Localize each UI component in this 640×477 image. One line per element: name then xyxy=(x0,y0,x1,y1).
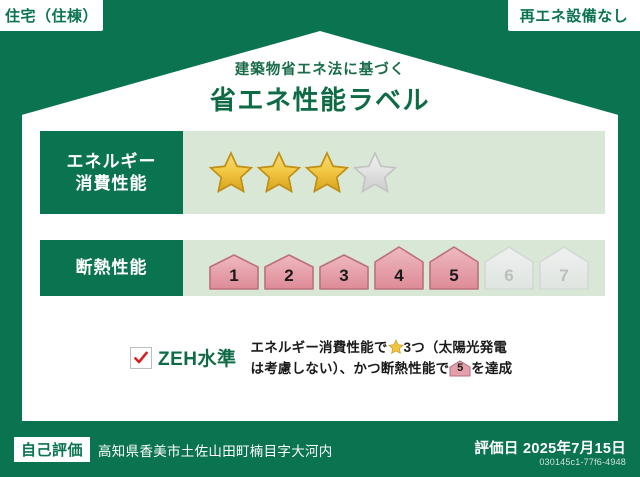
house-badge-number: 5 xyxy=(449,360,471,377)
zeh-desc-part1: エネルギー消費性能で xyxy=(251,340,388,355)
zeh-label: ZEH水準 xyxy=(158,344,237,371)
star-filled-icon xyxy=(304,150,350,196)
label-subtitle: 建築物省エネ法に基づく xyxy=(0,58,640,79)
zeh-description: エネルギー消費性能で 3つ（太陽光発電 は考慮しない）、かつ断熱性能で 5 を達… xyxy=(251,338,513,380)
self-evaluation-badge: 自己評価 xyxy=(14,437,90,462)
insulation-level-filled: 1 xyxy=(208,254,260,290)
zeh-desc-part3: は考慮しない）、かつ断熱性能で xyxy=(251,361,450,376)
zeh-desc-part4: を達成 xyxy=(471,361,512,376)
evaluation-id: 030145c1-77f6-4948 xyxy=(539,457,626,467)
property-address: 高知県香美市土佐山田町楠目字大河内 xyxy=(98,440,333,460)
insulation-level-filled: 4 xyxy=(373,246,425,290)
building-type-badge: 住宅（住棟） xyxy=(0,0,103,31)
zeh-heading: ZEH水準 xyxy=(130,344,237,371)
evaluation-date: 評価日 2025年7月15日 xyxy=(474,437,626,458)
footer: 自己評価 高知県香美市土佐山田町楠目字大河内 評価日 2025年7月15日 03… xyxy=(0,421,640,477)
star-empty-icon xyxy=(352,150,398,196)
star-filled-icon xyxy=(256,150,302,196)
insulation-level-strip-wrap: 1234567 xyxy=(183,240,605,296)
label-title: 省エネ性能ラベル xyxy=(0,80,640,117)
house-badge-icon: 5 xyxy=(449,360,471,377)
energy-star-rating xyxy=(183,131,605,214)
insulation-performance-label-line1: 断熱性能 xyxy=(76,257,148,278)
energy-performance-row: エネルギー 消費性能 xyxy=(40,131,605,214)
insulation-level-filled: 2 xyxy=(263,254,315,290)
energy-label-root: 住宅（住棟） 再エネ設備なし 建築物省エネ法に基づく 省エネ性能ラベル エネルギ… xyxy=(0,0,640,477)
insulation-level-filled: 3 xyxy=(318,254,370,290)
renewable-energy-badge: 再エネ設備なし xyxy=(508,0,640,31)
insulation-level-filled: 5 xyxy=(428,246,480,290)
star-icon xyxy=(388,339,404,355)
insulation-level-empty: 6 xyxy=(483,246,535,290)
energy-performance-label-line2: 消費性能 xyxy=(76,173,148,194)
energy-performance-label-line1: エネルギー xyxy=(67,151,157,172)
insulation-level-empty: 7 xyxy=(538,246,590,290)
zeh-checkbox xyxy=(130,347,152,369)
zeh-desc-part2: 3つ（太陽光発電 xyxy=(404,340,508,355)
energy-performance-label: エネルギー 消費性能 xyxy=(40,131,183,214)
insulation-performance-row: 断熱性能 1234567 xyxy=(40,240,605,296)
star-filled-icon xyxy=(208,150,254,196)
zeh-section: ZEH水準 エネルギー消費性能で 3つ（太陽光発電 は考慮しない）、かつ断熱性能… xyxy=(130,338,550,380)
insulation-performance-label: 断熱性能 xyxy=(40,240,183,296)
insulation-level-strip: 1234567 xyxy=(208,246,590,290)
